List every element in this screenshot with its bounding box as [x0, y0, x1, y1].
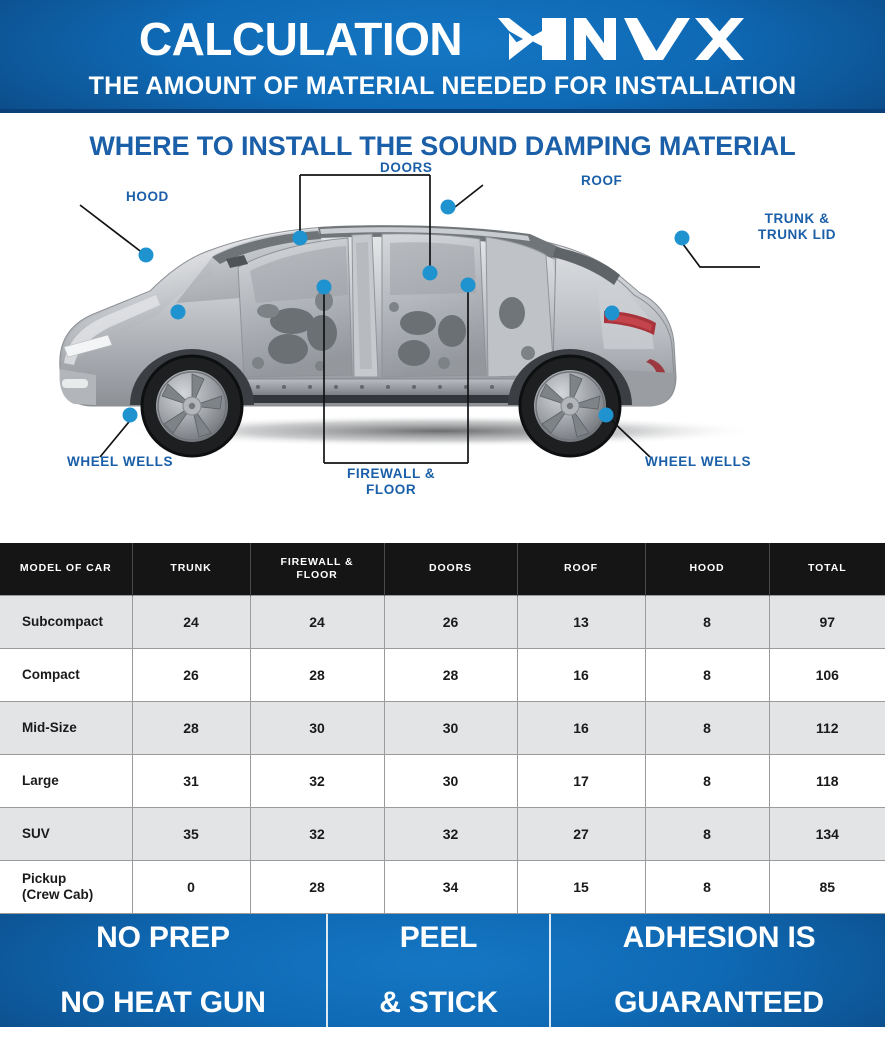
cell-trunk: 26	[132, 649, 250, 702]
cell-firewall-floor: 32	[250, 808, 384, 861]
cell-hood: 8	[645, 596, 769, 649]
cell-hood: 8	[645, 702, 769, 755]
marker-roof	[441, 200, 456, 215]
footer-panel-peel-stick: PEEL & STICK	[326, 914, 549, 1027]
col-header-firewall-line2: FLOOR	[296, 569, 337, 581]
vehicle-diagram: HOOD DOORS ROOF TRUNK & TRUNK LID WHEEL …	[0, 163, 885, 543]
footer-panel-1-line2: NO HEAT GUN	[60, 987, 266, 1019]
table-row: Subcompact 24 24 26 13 8 97	[0, 596, 885, 649]
col-header-doors: DOORS	[384, 543, 517, 596]
table-row: Mid-Size 28 30 30 16 8 112	[0, 702, 885, 755]
rear-wheel	[519, 355, 621, 457]
callout-label-firewall-line2: FLOOR	[347, 482, 435, 498]
table-header-row: MODEL OF CAR TRUNK FIREWALL & FLOOR DOOR…	[0, 543, 885, 596]
col-header-firewall-floor: FIREWALL & FLOOR	[250, 543, 384, 596]
headlight-lower	[62, 379, 88, 388]
callout-label-wheel-wells-right: WHEEL WELLS	[645, 454, 751, 470]
callout-label-roof: ROOF	[581, 173, 622, 189]
vehicle-diagram-svg	[0, 163, 885, 543]
calculation-table-wrap: MODEL OF CAR TRUNK FIREWALL & FLOOR DOOR…	[0, 543, 885, 914]
callout-label-firewall-line1: FIREWALL &	[347, 466, 435, 482]
header-subtitle: THE AMOUNT OF MATERIAL NEEDED FOR INSTAL…	[0, 74, 885, 99]
cell-total: 118	[769, 755, 885, 808]
footer-panel-3-line2: GUARANTEED	[614, 987, 824, 1019]
cell-total: 97	[769, 596, 885, 649]
cell-firewall-floor: 30	[250, 702, 384, 755]
col-header-firewall-line1: FIREWALL &	[281, 556, 354, 568]
marker-door-rear	[423, 266, 438, 281]
footer-panel-2-line2: & STICK	[379, 987, 498, 1019]
cell-doors: 30	[384, 755, 517, 808]
cell-doors: 26	[384, 596, 517, 649]
cell-trunk: 28	[132, 702, 250, 755]
callout-label-trunk: TRUNK & TRUNK LID	[758, 211, 836, 242]
cell-roof: 16	[517, 702, 645, 755]
callout-label-hood: HOOD	[126, 189, 169, 205]
cell-hood: 8	[645, 649, 769, 702]
bowtie-x-mark-icon	[498, 18, 566, 60]
callout-label-trunk-line2: TRUNK LID	[758, 227, 836, 243]
marker-floor	[461, 278, 476, 293]
cell-model: Large	[0, 755, 132, 808]
cell-roof: 27	[517, 808, 645, 861]
marker-hood	[139, 248, 154, 263]
col-header-roof: ROOF	[517, 543, 645, 596]
cell-trunk: 24	[132, 596, 250, 649]
cell-firewall-floor: 28	[250, 861, 384, 914]
cell-roof: 13	[517, 596, 645, 649]
logo-letter-x	[695, 18, 744, 60]
header-top-row: CALCULATION	[0, 8, 885, 70]
cell-firewall-floor: 28	[250, 649, 384, 702]
page-title: CALCULATION	[139, 16, 462, 62]
table-row: SUV 35 32 32 27 8 134	[0, 808, 885, 861]
cell-firewall-floor: 24	[250, 596, 384, 649]
marker-wheel-well-rear-low	[599, 408, 614, 423]
table-row: Compact 26 28 28 16 8 106	[0, 649, 885, 702]
nvx-logo-svg	[496, 16, 746, 62]
cell-roof: 17	[517, 755, 645, 808]
front-wheel	[141, 355, 243, 457]
cell-trunk: 35	[132, 808, 250, 861]
cell-model: Mid-Size	[0, 702, 132, 755]
marker-firewall	[317, 280, 332, 295]
cell-model: Compact	[0, 649, 132, 702]
cell-hood: 8	[645, 808, 769, 861]
nvx-logo	[496, 17, 746, 61]
footer-panel-3-line1: ADHESION IS	[614, 922, 824, 954]
footer-panel-no-prep: NO PREP NO HEAT GUN	[0, 914, 326, 1027]
marker-wheel-well-front	[171, 305, 186, 320]
cell-model-line1: Pickup	[22, 871, 66, 886]
callout-label-trunk-line1: TRUNK &	[758, 211, 836, 227]
marker-trunk-lid	[675, 231, 690, 246]
col-header-total: TOTAL	[769, 543, 885, 596]
marker-wheel-well-front-low	[123, 408, 138, 423]
page-header: CALCULATION	[0, 0, 885, 113]
cell-hood: 8	[645, 755, 769, 808]
section-title: WHERE TO INSTALL THE SOUND DAMPING MATER…	[0, 131, 885, 162]
cell-total: 106	[769, 649, 885, 702]
cell-doors: 30	[384, 702, 517, 755]
logo-letter-v	[624, 18, 690, 60]
cell-doors: 28	[384, 649, 517, 702]
marker-door-front	[293, 231, 308, 246]
callout-label-firewall: FIREWALL & FLOOR	[347, 466, 435, 497]
callout-label-wheel-wells-left: WHEEL WELLS	[67, 454, 173, 470]
marker-wheel-well-rear	[605, 306, 620, 321]
footer-panel-adhesion: ADHESION IS GUARANTEED	[549, 914, 885, 1027]
cell-trunk: 31	[132, 755, 250, 808]
cell-roof: 16	[517, 649, 645, 702]
footer-panel-2-line1: PEEL	[379, 922, 498, 954]
table-row: Large 31 32 30 17 8 118	[0, 755, 885, 808]
diagram-section: WHERE TO INSTALL THE SOUND DAMPING MATER…	[0, 113, 885, 543]
cell-firewall-floor: 32	[250, 755, 384, 808]
col-header-trunk: TRUNK	[132, 543, 250, 596]
callout-label-doors: DOORS	[380, 160, 433, 176]
logo-letter-n	[574, 18, 616, 60]
door-frame-cutaway	[238, 234, 554, 377]
cell-doors: 32	[384, 808, 517, 861]
calculation-table: MODEL OF CAR TRUNK FIREWALL & FLOOR DOOR…	[0, 543, 885, 914]
cell-model: SUV	[0, 808, 132, 861]
cell-total: 112	[769, 702, 885, 755]
page-footer: NO PREP NO HEAT GUN PEEL & STICK ADHESIO…	[0, 914, 885, 1027]
cell-total: 134	[769, 808, 885, 861]
footer-panel-1-line1: NO PREP	[60, 922, 266, 954]
col-header-hood: HOOD	[645, 543, 769, 596]
cell-model: Subcompact	[0, 596, 132, 649]
col-header-model: MODEL OF CAR	[0, 543, 132, 596]
